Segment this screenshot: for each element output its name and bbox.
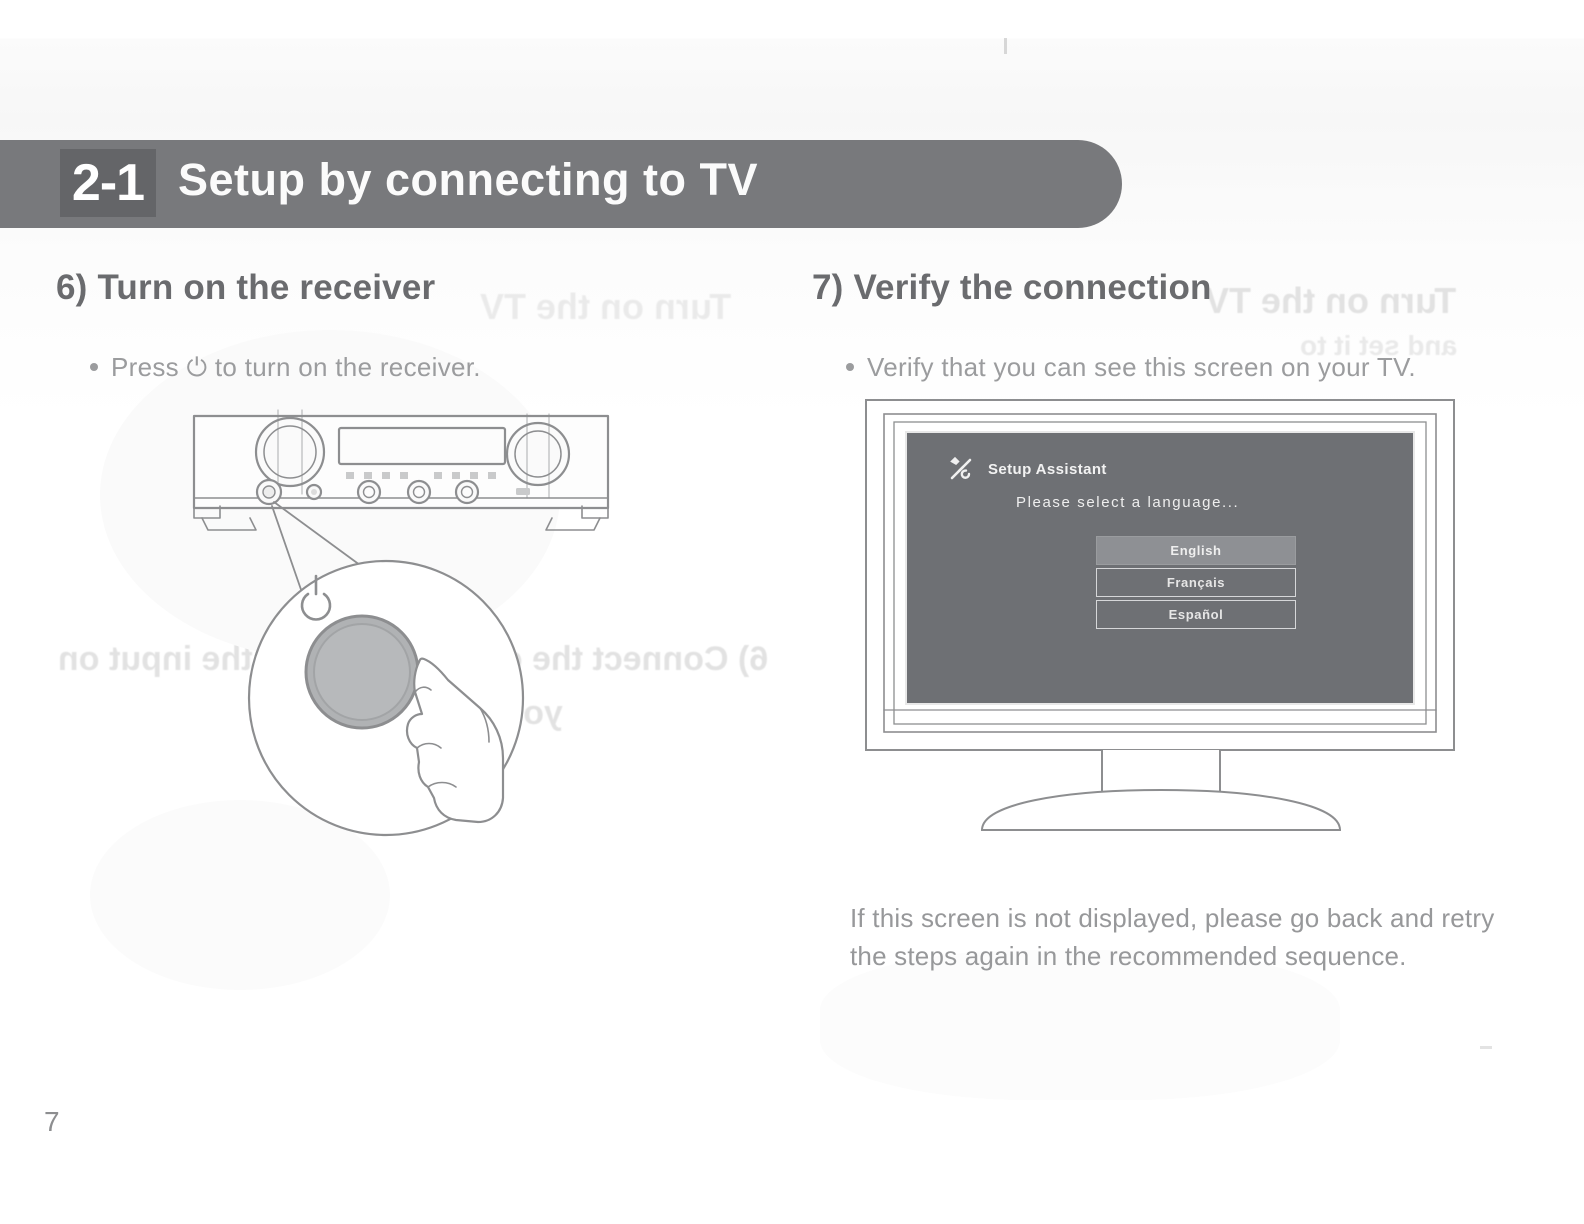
language-option-label: English	[1170, 543, 1221, 558]
step-6-bullet-suffix: to turn on the receiver.	[215, 352, 481, 382]
language-option-label: Español	[1169, 607, 1224, 622]
step-7-column: 7) Verify the connection Verify that you…	[812, 268, 1552, 383]
setup-assistant-title: Setup Assistant	[988, 461, 1107, 478]
step-6-heading: 6) Turn on the receiver	[56, 268, 756, 308]
language-option-francais[interactable]: Français	[1096, 568, 1296, 597]
language-option-label: Français	[1167, 575, 1225, 590]
bullet-dot-icon	[90, 363, 98, 371]
retry-caption: If this screen is not displayed, please …	[850, 899, 1530, 975]
language-prompt: Please select a language...	[1016, 494, 1239, 511]
tv-screen-content: Setup Assistant Please select a language…	[906, 432, 1414, 704]
tools-icon	[948, 456, 974, 482]
step-6-bullet-prefix: Press	[111, 352, 179, 382]
section-title: Setup by connecting to TV	[178, 154, 758, 206]
page-number: 7	[44, 1106, 60, 1138]
section-banner: 2-1 Setup by connecting to TV	[0, 140, 1122, 228]
language-option-english[interactable]: English	[1096, 536, 1296, 565]
section-number-badge: 2-1	[60, 149, 156, 217]
scan-speck	[1480, 1046, 1492, 1049]
power-icon: ⏻	[187, 352, 208, 382]
step-7-bullet: Verify that you can see this screen on y…	[846, 352, 1552, 383]
tv-illustration: Setup Assistant Please select a language…	[862, 396, 1482, 841]
bullet-dot-icon	[846, 363, 854, 371]
scan-speck	[1004, 38, 1007, 54]
setup-assistant-row: Setup Assistant	[948, 456, 1107, 482]
step-6-column: 6) Turn on the receiver Press ⏻ to turn …	[56, 268, 756, 384]
language-option-list[interactable]: English Français Español	[1096, 536, 1296, 629]
language-option-espanol[interactable]: Español	[1096, 600, 1296, 629]
step-6-bullet: Press ⏻ to turn on the receiver.	[90, 352, 756, 384]
step-7-heading: 7) Verify the connection	[812, 268, 1552, 308]
manual-page: 6) Connect the component with the input …	[0, 0, 1584, 1224]
step-7-bullet-text: Verify that you can see this screen on y…	[867, 352, 1416, 382]
receiver-illustration	[186, 398, 656, 883]
